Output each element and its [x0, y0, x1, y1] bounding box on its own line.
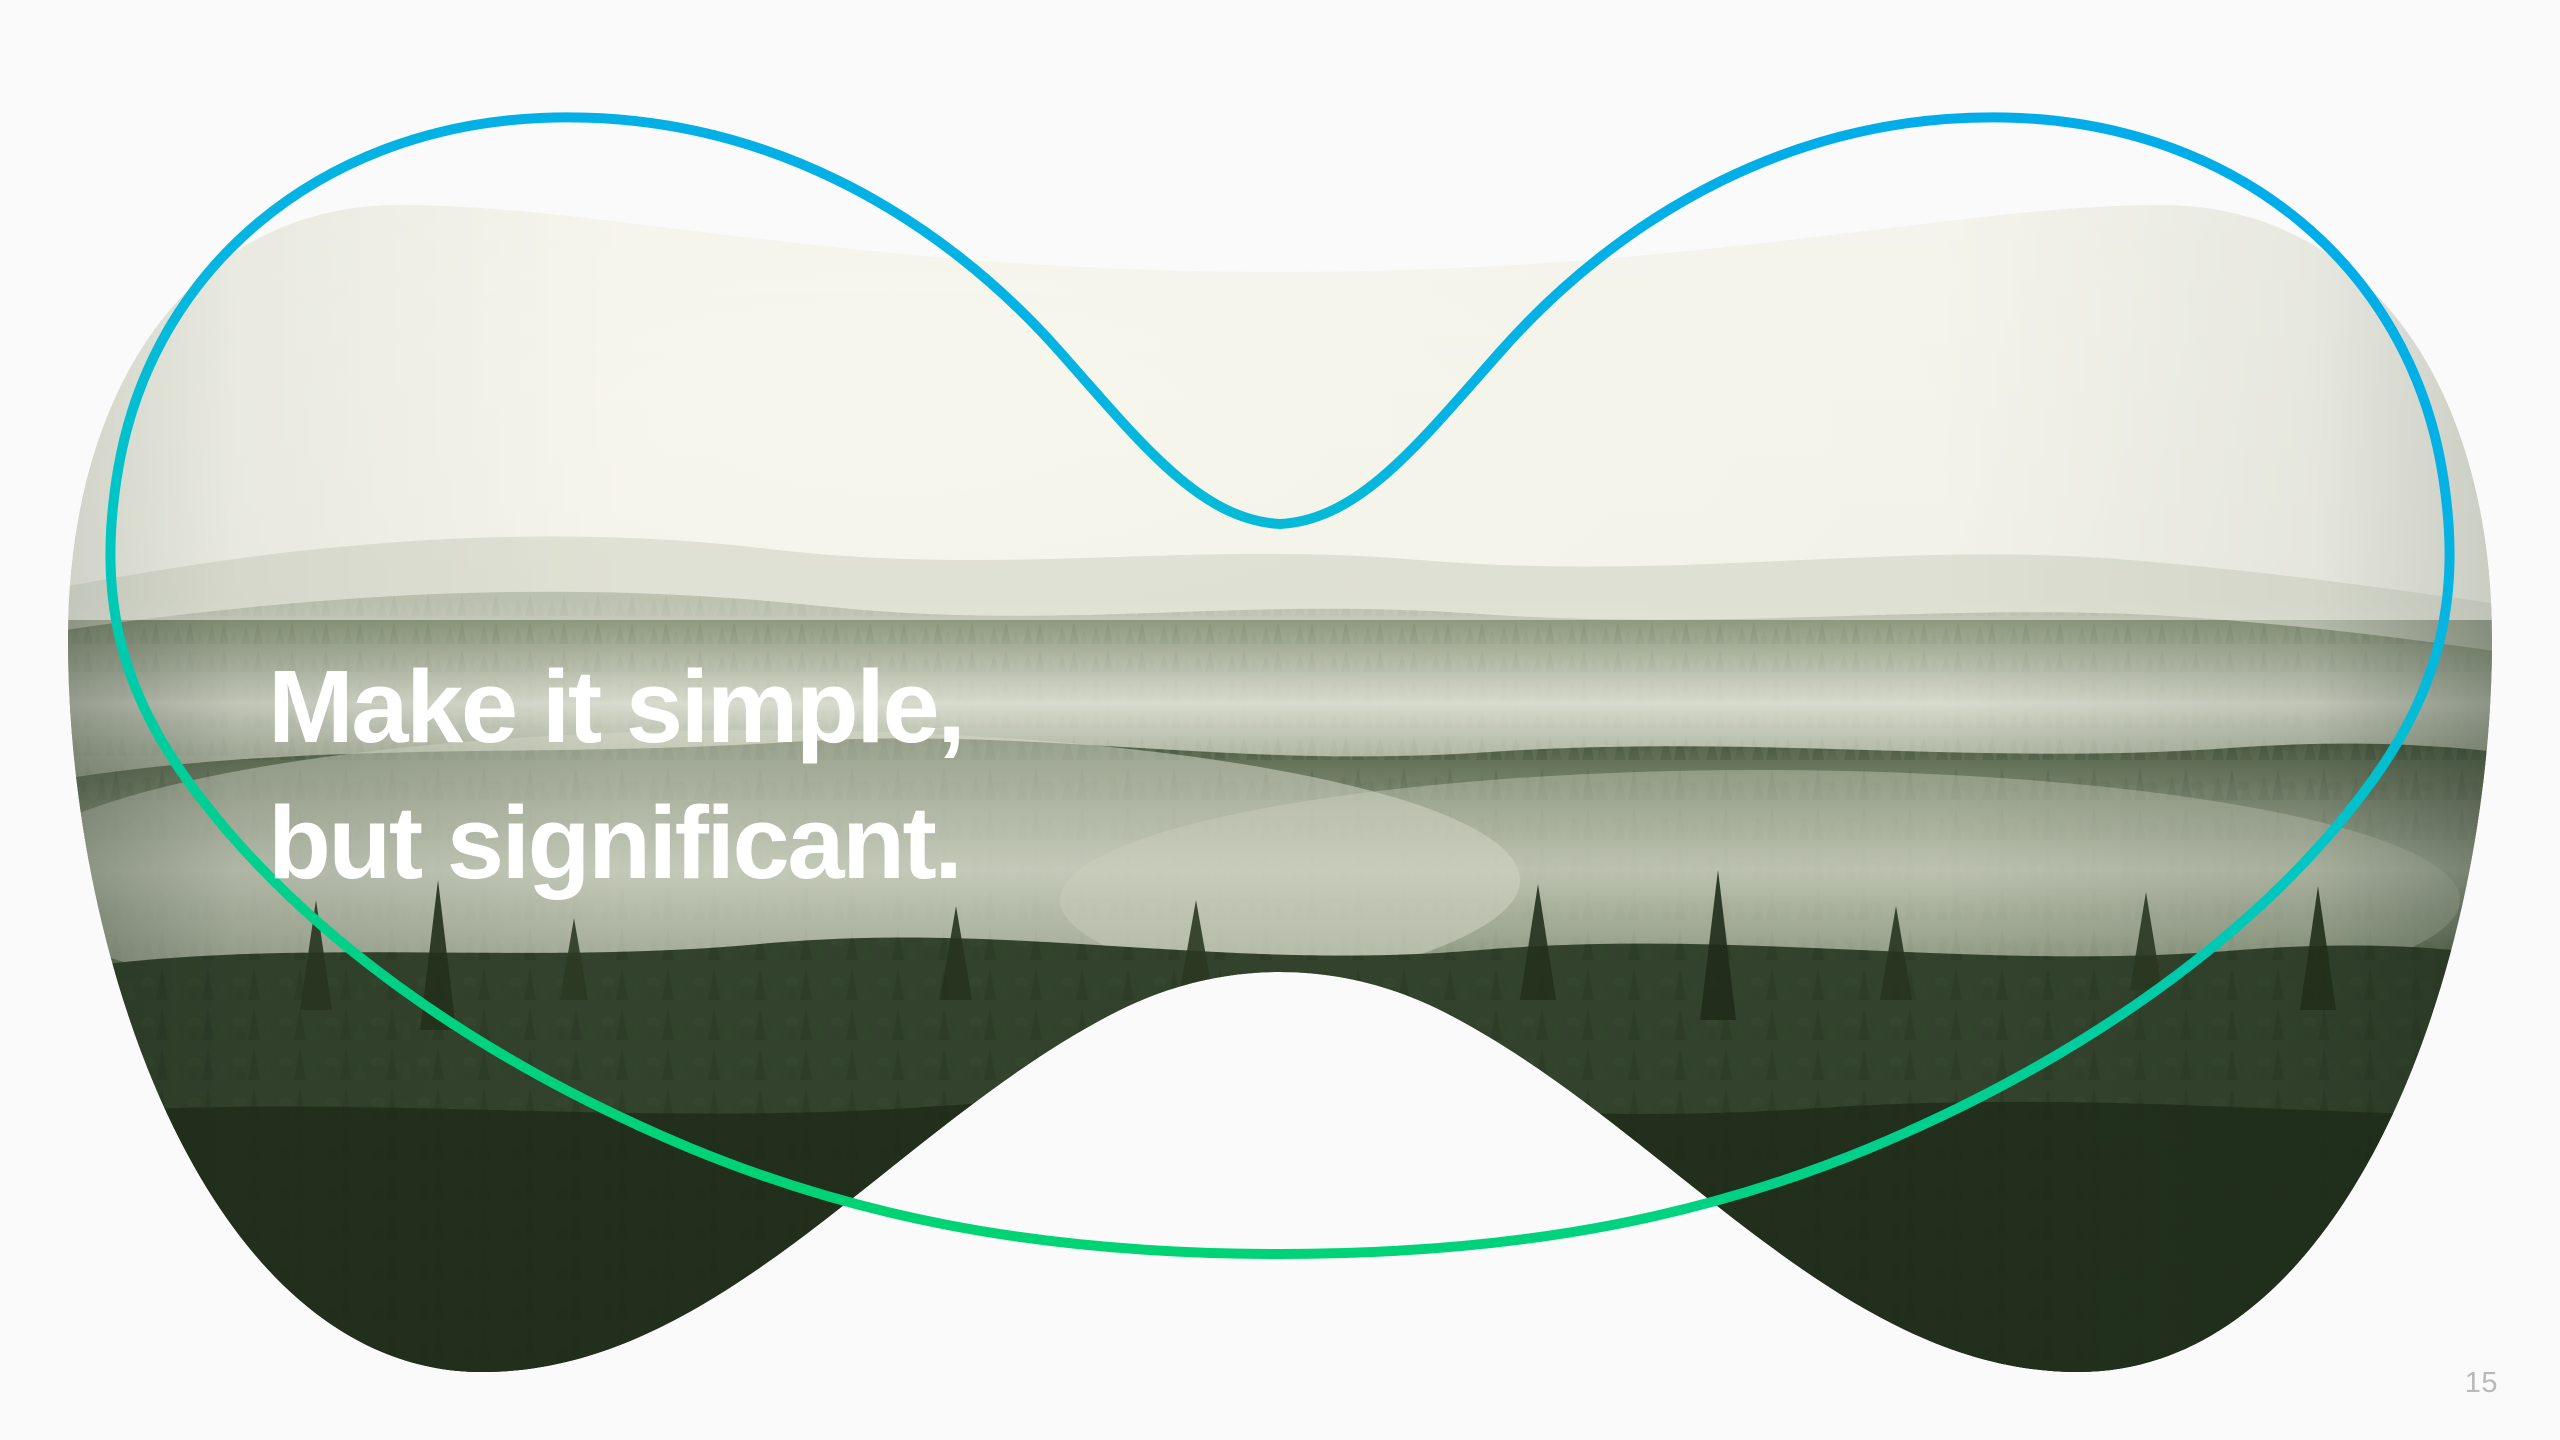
photo-top-haze	[0, 150, 2560, 620]
decorative-artwork	[0, 0, 2560, 1440]
slide-canvas: Make it simple, but significant. 15	[0, 0, 2560, 1440]
page-number: 15	[2465, 1367, 2498, 1400]
photo-clipped-group	[0, 150, 2560, 1440]
